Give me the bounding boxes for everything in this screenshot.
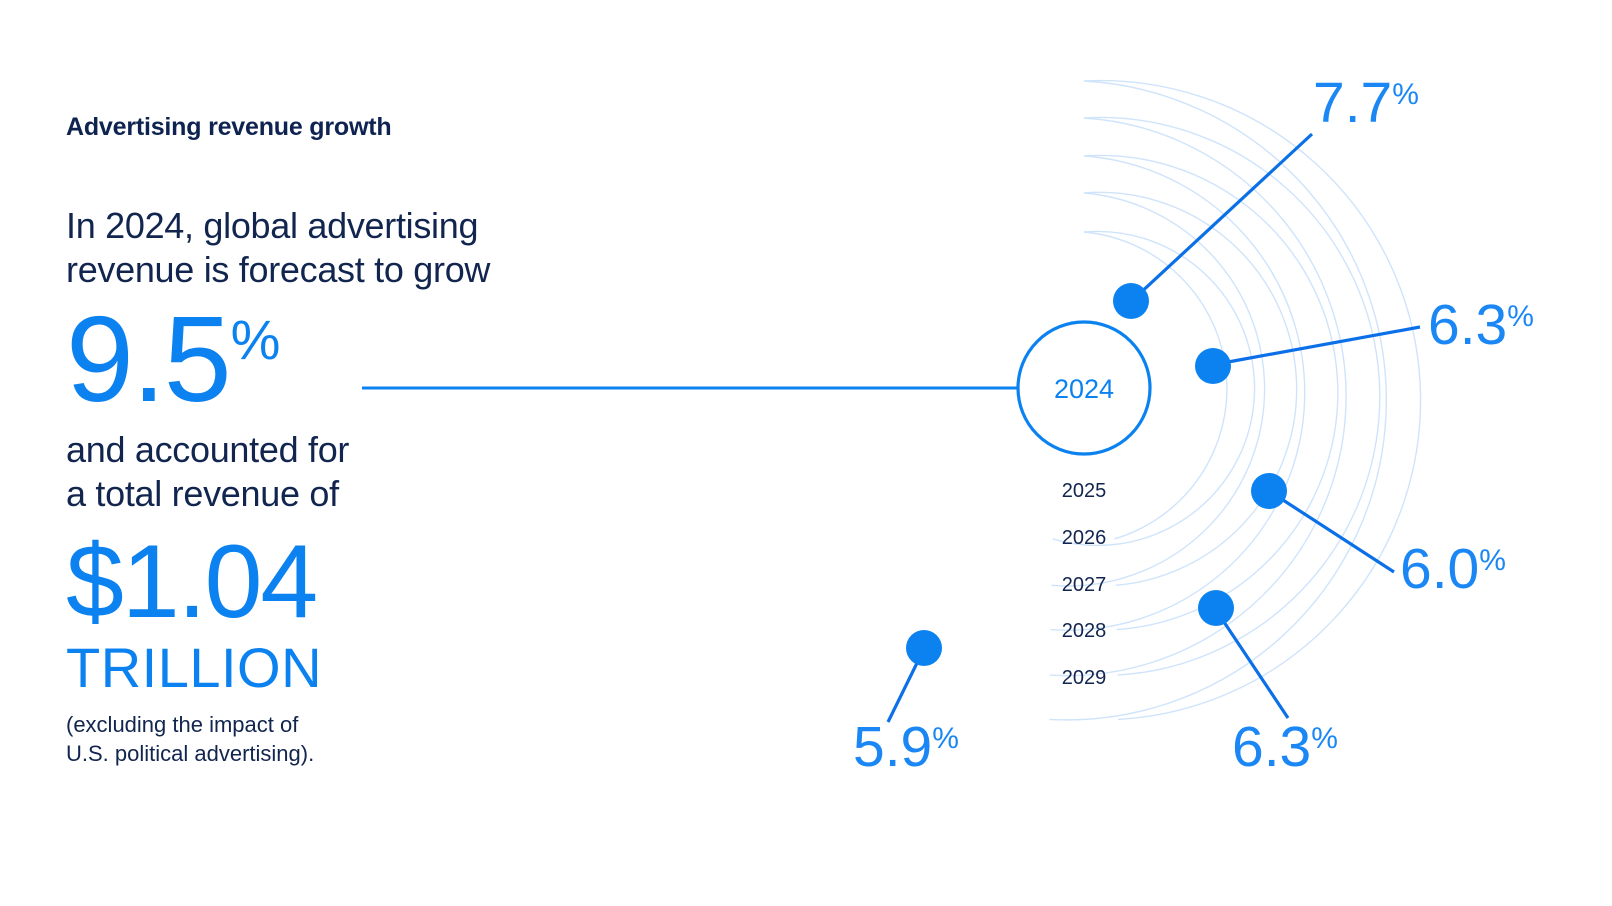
data-point-2029[interactable]	[906, 630, 942, 666]
value-label-2028-number: 6.3	[1232, 715, 1311, 779]
value-label-2027: 6.0%	[1400, 537, 1506, 601]
year-label-2025: 2025	[1062, 480, 1107, 502]
value-label-2025: 7.7%	[1313, 71, 1419, 135]
value-label-2026-suffix: %	[1507, 300, 1534, 333]
value-label-2028: 6.3%	[1232, 715, 1338, 779]
hub-year-label: 2024	[1054, 374, 1114, 404]
year-label-2029: 2029	[1062, 667, 1107, 689]
value-label-2025-number: 7.7	[1313, 71, 1392, 135]
infographic-canvas: Advertising revenue growth In 2024, glob…	[0, 0, 1612, 906]
ring-year-labels: 2025 2026 2027 2028 2029	[1062, 480, 1107, 689]
value-label-2027-number: 6.0	[1400, 537, 1479, 601]
leader-line-2029	[888, 663, 917, 722]
data-point-2026[interactable]	[1195, 348, 1231, 384]
value-label-2029-number: 5.9	[853, 715, 932, 779]
leader-line-2028	[1224, 622, 1288, 718]
value-label-2026-number: 6.3	[1428, 293, 1507, 357]
year-label-2026: 2026	[1062, 527, 1107, 549]
value-label-2027-suffix: %	[1479, 544, 1506, 577]
value-label-2025-suffix: %	[1392, 78, 1419, 111]
data-point-2025[interactable]	[1113, 283, 1149, 319]
value-label-2028-suffix: %	[1311, 722, 1338, 755]
year-label-2027: 2027	[1062, 574, 1107, 596]
data-point-2028[interactable]	[1198, 590, 1234, 626]
leader-line-2025	[1137, 134, 1312, 296]
data-point-2027[interactable]	[1251, 473, 1287, 509]
radial-chart: 2025 2026 2027 2028 2029 2024 7.7% 6.3% …	[0, 0, 1612, 906]
year-label-2028: 2028	[1062, 620, 1107, 642]
value-label-2029-suffix: %	[932, 722, 959, 755]
value-label-2026: 6.3%	[1428, 293, 1534, 357]
leader-line-2027	[1283, 500, 1394, 572]
value-label-2029: 5.9%	[853, 715, 959, 779]
